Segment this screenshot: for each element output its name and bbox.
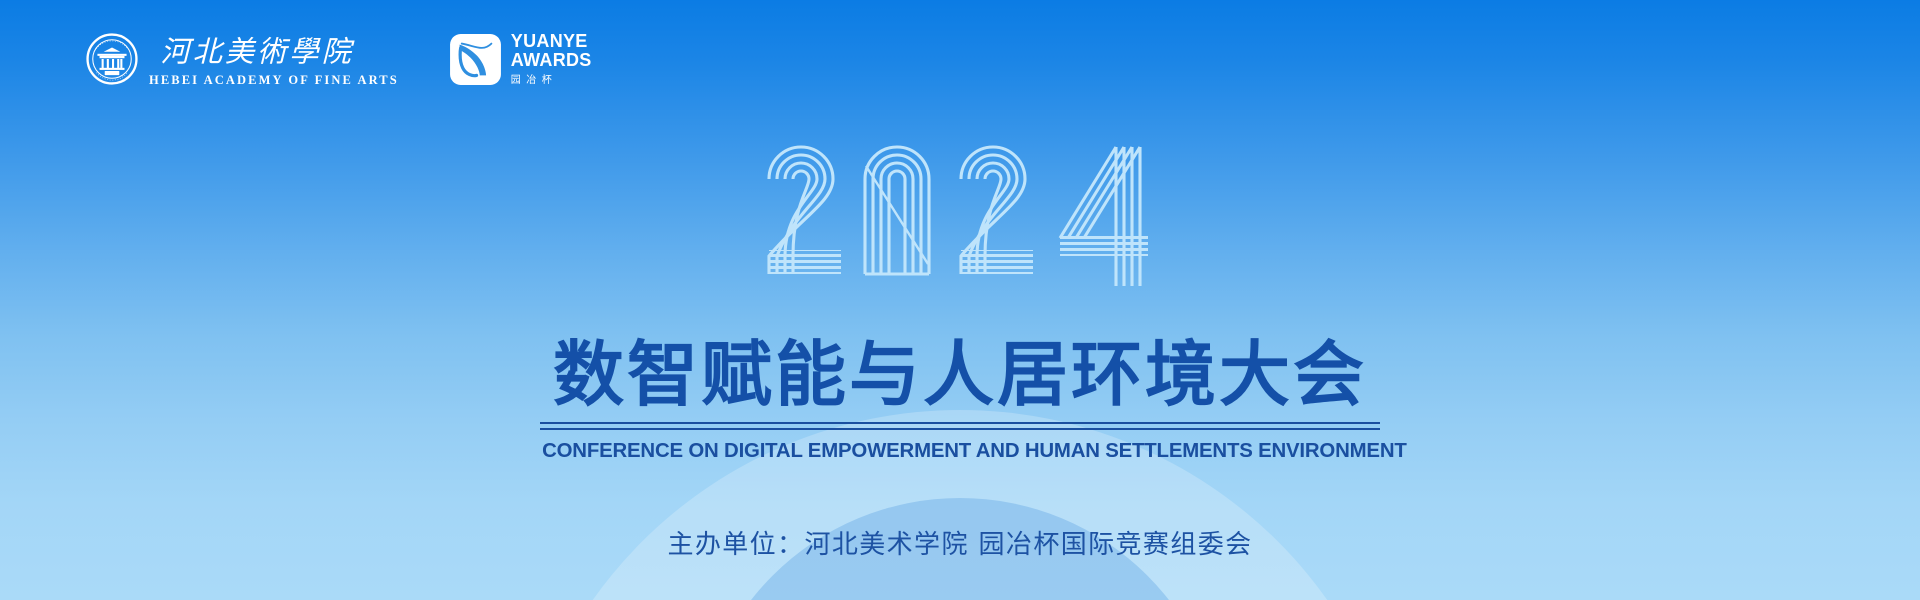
title-divider — [540, 422, 1380, 430]
yuanye-name-cn: 园冶杯 — [511, 71, 592, 86]
yuanye-awards-logo[interactable]: YUANYE AWARDS 园冶杯 — [449, 31, 592, 87]
year-2024-icon — [760, 138, 1160, 288]
year-graphic — [0, 138, 1920, 288]
conference-banner: 河北美術學院 HEBEI ACADEMY OF FINE ARTS YUANYE… — [0, 0, 1920, 600]
hero-title-block: 数智赋能与人居环境大会 CONFERENCE ON DIGITAL EMPOWE… — [540, 338, 1380, 463]
yuanye-awards-mark-icon — [449, 33, 502, 86]
svg-text:河北美術學院: 河北美術學院 — [160, 35, 354, 69]
divider-line-bottom — [540, 428, 1380, 430]
hebei-academy-logo[interactable]: 河北美術學院 HEBEI ACADEMY OF FINE ARTS — [86, 28, 399, 90]
yuanye-line1: YUANYE — [511, 32, 592, 50]
hebei-academy-seal-icon — [86, 33, 138, 85]
conference-title-en: CONFERENCE ON DIGITAL EMPOWERMENT AND HU… — [542, 439, 1378, 463]
yuanye-awards-text: YUANYE AWARDS 园冶杯 — [511, 32, 592, 86]
organizer-line: 主办单位：河北美术学院 园冶杯国际竞赛组委会 — [667, 524, 1252, 561]
divider-line-top — [540, 422, 1380, 424]
yuanye-line2: AWARDS — [511, 51, 592, 69]
conference-title-cn: 数智赋能与人居环境大会 — [540, 338, 1380, 413]
logo-row: 河北美術學院 HEBEI ACADEMY OF FINE ARTS YUANYE… — [86, 28, 592, 90]
hebei-academy-name-cn-calligraphy: 河北美術學院 — [147, 30, 399, 72]
hebei-academy-name-en: HEBEI ACADEMY OF FINE ARTS — [149, 73, 399, 88]
hebei-academy-names: 河北美術學院 HEBEI ACADEMY OF FINE ARTS — [147, 30, 399, 88]
